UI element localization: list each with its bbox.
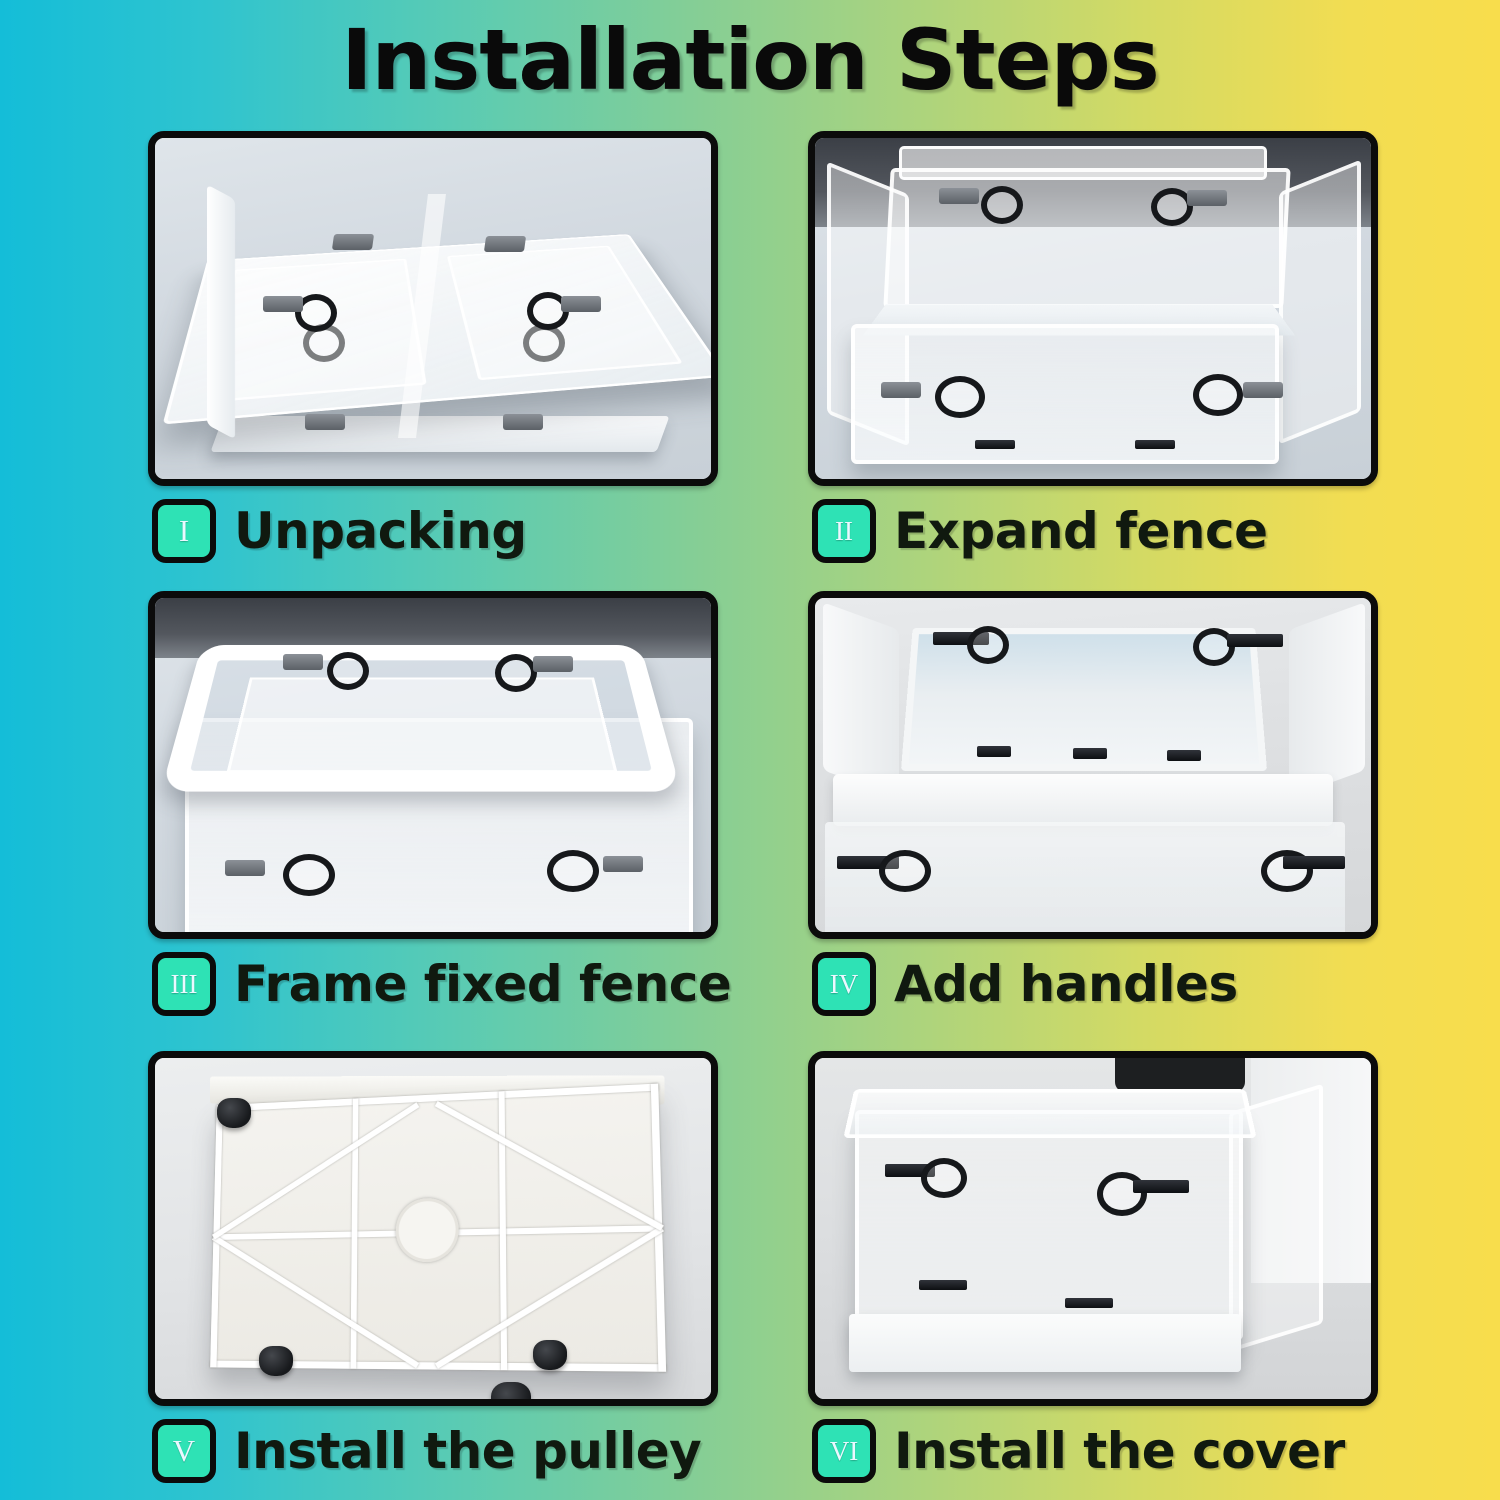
step-card-2: II Expand fence: [808, 131, 1378, 591]
step-caption-3: III Frame fixed fence: [152, 952, 731, 1016]
buckle-icon: [1133, 1180, 1189, 1193]
buckle-icon: [305, 414, 345, 430]
center-hub: [396, 1197, 459, 1262]
hinge-clip-icon: [977, 746, 1011, 757]
ring-pull-icon: [523, 324, 565, 362]
buckle-icon: [1187, 190, 1227, 206]
step-card-4: IV Add handles: [808, 591, 1378, 1051]
buckle-icon: [533, 656, 573, 672]
ring-pull-icon: [967, 626, 1009, 664]
step-photo-6: [808, 1051, 1378, 1406]
photo-illustration-add-handles: [815, 598, 1371, 932]
step-label-5: Install the pulley: [234, 1420, 701, 1482]
box-right-wall: [1279, 159, 1361, 444]
photo-illustration-unpacking: [155, 138, 711, 479]
photo-illustration-frame-fixed-fence: [155, 598, 711, 932]
installation-steps-poster: Installation Steps: [0, 0, 1500, 1500]
buckle-icon: [881, 382, 921, 398]
buckle-icon: [283, 654, 323, 670]
step-card-6: VI Install the cover: [808, 1051, 1378, 1491]
step-photo-5: [148, 1051, 718, 1406]
step-photo-1: [148, 131, 718, 486]
step-label-4: Add handles: [894, 953, 1238, 1015]
background-shadow: [1115, 1058, 1245, 1092]
step-badge-2: II: [812, 499, 876, 563]
caster-wheel-icon: [533, 1340, 567, 1370]
hinge-clip-icon: [1167, 750, 1201, 761]
buckle-icon: [1283, 856, 1345, 869]
step-card-3: III Frame fixed fence: [148, 591, 718, 1051]
box-base-plinth: [849, 1314, 1241, 1372]
step-label-3: Frame fixed fence: [234, 953, 731, 1015]
frame-inner-opening: [226, 677, 617, 772]
hinge-clip-icon: [975, 440, 1015, 449]
buckle-icon: [1227, 634, 1283, 647]
box-right-flap: [1289, 602, 1365, 798]
ring-pull-icon: [303, 324, 345, 362]
buckle-icon: [939, 188, 979, 204]
hinge-clip-icon: [1065, 1298, 1113, 1308]
step-label-1: Unpacking: [234, 500, 527, 562]
lid-rail: [207, 185, 235, 440]
step-caption-2: II Expand fence: [812, 499, 1268, 563]
buckle-icon: [503, 414, 543, 430]
ring-pull-icon: [327, 652, 369, 690]
buckle-icon: [484, 236, 526, 252]
buckle-icon: [561, 296, 601, 312]
photo-illustration-expand-fence: [815, 138, 1371, 479]
front-rail: [833, 774, 1333, 826]
lid-flap: [899, 146, 1267, 180]
step-badge-5: V: [152, 1419, 216, 1483]
ring-pull-icon: [921, 1158, 967, 1198]
hinge-clip-icon: [1073, 748, 1107, 759]
photo-illustration-install-pulley: [155, 1058, 711, 1399]
step-badge-1: I: [152, 499, 216, 563]
page-title: Installation Steps: [0, 8, 1500, 113]
step-badge-6: VI: [812, 1419, 876, 1483]
base-rib-pattern: [210, 1084, 666, 1372]
step-caption-1: I Unpacking: [152, 499, 527, 563]
ring-pull-icon: [547, 850, 599, 892]
box-front-wall: [855, 1110, 1243, 1340]
step-caption-4: IV Add handles: [812, 952, 1238, 1016]
buckle-icon: [1243, 382, 1283, 398]
step-card-5: V Install the pulley: [148, 1051, 718, 1491]
ring-pull-icon: [1097, 1172, 1147, 1216]
step-photo-4: [808, 591, 1378, 939]
caster-wheel-icon: [217, 1098, 251, 1128]
hinge-clip-icon: [1135, 440, 1175, 449]
step-photo-3: [148, 591, 718, 939]
step-caption-6: VI Install the cover: [812, 1419, 1345, 1483]
steps-grid: I Unpacking: [148, 131, 1378, 1491]
step-caption-5: V Install the pulley: [152, 1419, 701, 1483]
step-card-1: I Unpacking: [148, 131, 718, 591]
step-badge-4: IV: [812, 952, 876, 1016]
ring-pull-icon: [879, 850, 931, 892]
buckle-icon: [263, 296, 303, 312]
loose-caster-wheel-icon: [491, 1382, 531, 1399]
ring-pull-icon: [935, 376, 985, 418]
ring-pull-icon: [283, 854, 335, 896]
ring-pull-icon: [495, 654, 537, 692]
step-badge-3: III: [152, 952, 216, 1016]
buckle-icon: [332, 234, 374, 250]
box-left-flap: [823, 602, 899, 798]
step-photo-2: [808, 131, 1378, 486]
step-label-6: Install the cover: [894, 1420, 1345, 1482]
buckle-icon: [603, 856, 643, 872]
ring-pull-icon: [981, 186, 1023, 224]
hinge-clip-icon: [919, 1280, 967, 1290]
photo-illustration-install-cover: [815, 1058, 1371, 1399]
step-label-2: Expand fence: [894, 500, 1268, 562]
buckle-icon: [225, 860, 265, 876]
ring-pull-icon: [1193, 374, 1243, 416]
caster-wheel-icon: [259, 1346, 293, 1376]
box-base-edge: [210, 416, 669, 452]
box-lid: [843, 1089, 1256, 1138]
